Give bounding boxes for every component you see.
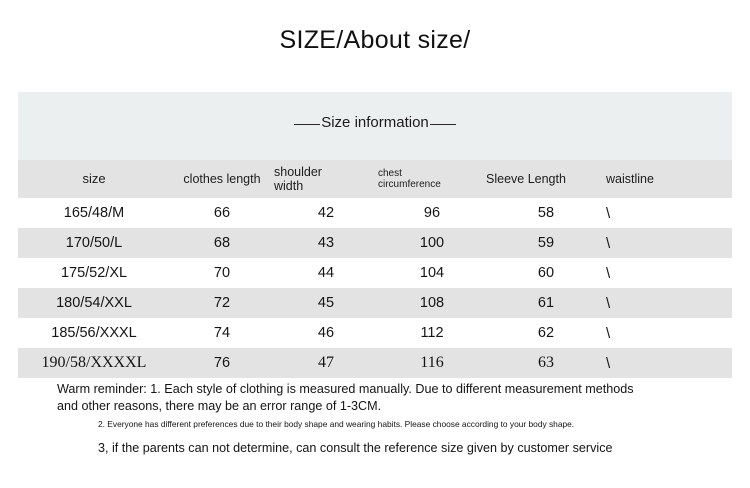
size-table-body: size clothes length shoulder width chest… (18, 160, 732, 378)
note-preferences: 2. Everyone has different preferences du… (98, 419, 638, 430)
cell-size: 175/52/XL (18, 258, 170, 288)
cell-shoulder-width: 44 (274, 258, 378, 288)
header-shoulder-width-line1: shoulder (274, 165, 322, 179)
cell-chest-circumference: 104 (378, 258, 486, 288)
cell-shoulder-width: 43 (274, 228, 378, 258)
cell-chest-circumference: 112 (378, 318, 486, 348)
cell-sleeve-length: 58 (486, 198, 606, 228)
decorative-dash-right (430, 124, 456, 125)
cell-sleeve-length: 61 (486, 288, 606, 318)
table-row: 180/54/XXL 72 45 108 61 \ (18, 288, 732, 318)
cell-size: 170/50/L (18, 228, 170, 258)
cell-shoulder-width: 47 (274, 348, 378, 378)
cell-size: 180/54/XXL (18, 288, 170, 318)
cell-sleeve-length: 59 (486, 228, 606, 258)
cell-clothes-length: 68 (170, 228, 274, 258)
cell-chest-circumference: 116 (378, 348, 486, 378)
header-chest-circumference: chest circumference (378, 160, 486, 198)
cell-sleeve-length: 63 (486, 348, 606, 378)
header-sleeve-length: Sleeve Length (486, 160, 606, 198)
cell-waistline: \ (606, 288, 732, 318)
note-customer-service: 3, if the parents can not determine, can… (98, 440, 618, 457)
cell-waistline: \ (606, 318, 732, 348)
cell-size: 165/48/M (18, 198, 170, 228)
cell-shoulder-width: 42 (274, 198, 378, 228)
cell-clothes-length: 74 (170, 318, 274, 348)
header-waistline: waistline (606, 160, 732, 198)
header-clothes-length: clothes length (170, 160, 274, 198)
cell-chest-circumference: 96 (378, 198, 486, 228)
cell-size: 185/56/XXXL (18, 318, 170, 348)
table-row: 190/58/XXXXL 76 47 116 63 \ (18, 348, 732, 378)
cell-clothes-length: 66 (170, 198, 274, 228)
title-area: SIZE/About size/ (0, 0, 750, 92)
cell-waistline: \ (606, 228, 732, 258)
cell-sleeve-length: 62 (486, 318, 606, 348)
cell-waistline: \ (606, 258, 732, 288)
cell-shoulder-width: 46 (274, 318, 378, 348)
header-chest-circumference-line1: chest (378, 168, 402, 179)
cell-chest-circumference: 108 (378, 288, 486, 318)
header-chest-circumference-line2: circumference (378, 179, 441, 190)
size-information-heading: Size information (18, 114, 732, 131)
header-size: size (18, 160, 170, 198)
cell-clothes-length: 72 (170, 288, 274, 318)
cell-clothes-length: 70 (170, 258, 274, 288)
table-row: 165/48/M 66 42 96 58 \ (18, 198, 732, 228)
table-row: 170/50/L 68 43 100 59 \ (18, 228, 732, 258)
page-title: SIZE/About size/ (0, 26, 750, 55)
cell-chest-circumference: 100 (378, 228, 486, 258)
cell-size: 190/58/XXXXL (18, 348, 170, 378)
table-header-row: size clothes length shoulder width chest… (18, 160, 732, 198)
title-watermark (330, 56, 450, 78)
size-chart: Size information size clothes length sho… (18, 92, 732, 378)
header-shoulder-width-line2: width (274, 179, 303, 193)
table-row: 185/56/XXXL 74 46 112 62 \ (18, 318, 732, 348)
size-information-label: Size information (321, 114, 429, 131)
note-warm-reminder: Warm reminder: 1. Each style of clothing… (57, 381, 657, 415)
cell-sleeve-length: 60 (486, 258, 606, 288)
table-row: 175/52/XL 70 44 104 60 \ (18, 258, 732, 288)
cell-waistline: \ (606, 198, 732, 228)
cell-shoulder-width: 45 (274, 288, 378, 318)
cell-waistline: \ (606, 348, 732, 378)
size-table: size clothes length shoulder width chest… (18, 160, 732, 378)
size-information-band: Size information (18, 92, 732, 160)
decorative-dash-left (294, 124, 320, 125)
cell-clothes-length: 76 (170, 348, 274, 378)
header-shoulder-width: shoulder width (274, 160, 378, 198)
